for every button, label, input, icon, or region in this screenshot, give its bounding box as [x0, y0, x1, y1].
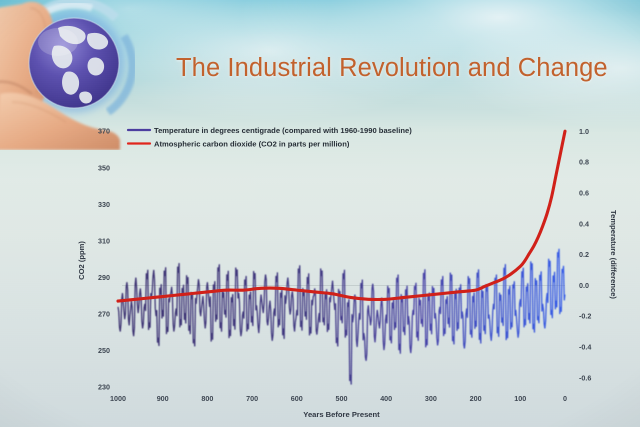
temperature-series-line: [118, 249, 565, 385]
y2-tick-label-8: 1.0: [579, 127, 589, 136]
legend-label-0: Temperature in degrees centigrade (compa…: [154, 126, 412, 135]
y-tick-label-4: 310: [98, 236, 110, 245]
x-tick-label-2: 800: [201, 394, 213, 403]
climate-chart: Temperature in degrees centigrade (compa…: [0, 100, 640, 427]
y2-tick-label-4: 0.2: [579, 250, 589, 259]
y-tick-label-3: 290: [98, 273, 110, 282]
x-tick-label-10: 0: [563, 394, 567, 403]
y2-tick-label-1: -0.4: [579, 343, 591, 352]
x-tick-label-1: 900: [157, 394, 169, 403]
chart-axis-labels: 230250270290310330350370-0.6-0.4-0.20.00…: [77, 127, 618, 419]
x-tick-label-3: 700: [246, 394, 258, 403]
globe: [29, 18, 119, 108]
x-tick-label-5: 500: [336, 394, 348, 403]
y2-tick-label-2: -0.2: [579, 312, 591, 321]
x-tick-label-6: 400: [380, 394, 392, 403]
y2-tick-label-6: 0.6: [579, 188, 589, 197]
presentation-slide: The Industrial Revolution and Change Tem…: [0, 0, 640, 427]
x-tick-label-7: 300: [425, 394, 437, 403]
y-tick-label-5: 330: [98, 200, 110, 209]
x-tick-label-8: 200: [470, 394, 482, 403]
page-title: The Industrial Revolution and Change: [176, 54, 608, 83]
chart-legend: Temperature in degrees centigrade (compa…: [128, 126, 412, 149]
legend-label-1: Atmospheric carbon dioxide (CO2 in parts…: [154, 140, 350, 149]
y2-tick-label-3: 0.0: [579, 281, 589, 290]
x-axis-title: Years Before Present: [303, 410, 380, 419]
y-tick-label-7: 370: [98, 127, 110, 136]
x-tick-label-4: 600: [291, 394, 303, 403]
y2-tick-label-0: -0.6: [579, 373, 591, 382]
y2-axis-title: Temperature (difference): [609, 210, 618, 299]
x-tick-label-0: 1000: [110, 394, 126, 403]
y-tick-label-2: 270: [98, 309, 110, 318]
y-axis-title: CO2 (ppm): [77, 241, 86, 280]
y-tick-label-0: 230: [98, 383, 110, 392]
y2-tick-label-7: 0.8: [579, 158, 589, 167]
chart-series: [118, 131, 565, 384]
y-tick-label-6: 350: [98, 163, 110, 172]
y2-tick-label-5: 0.4: [579, 219, 589, 228]
x-tick-label-9: 100: [514, 394, 526, 403]
y-tick-label-1: 250: [98, 346, 110, 355]
co2-series-line: [118, 131, 565, 301]
